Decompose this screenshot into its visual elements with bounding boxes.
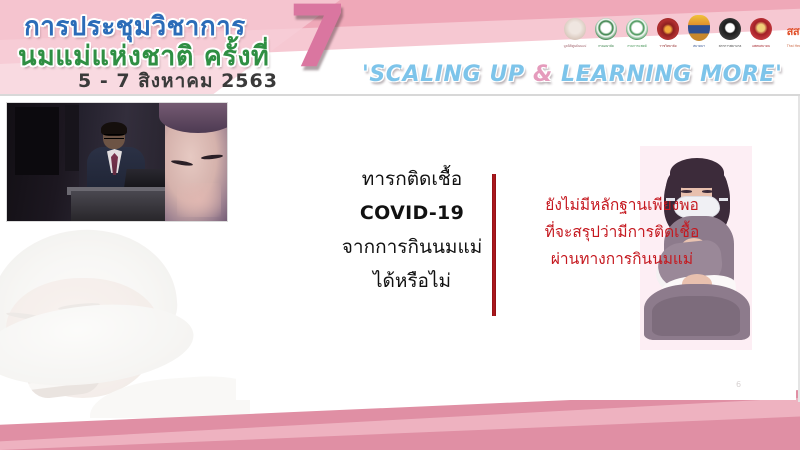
royal-seal-icon — [564, 18, 586, 40]
podium — [71, 191, 175, 222]
tagline-part-1: 'SCALING UP — [362, 62, 533, 87]
department-health-caption: กรมการแพทย์ — [624, 44, 650, 52]
royal-crest-logo: สมาคมฯ — [686, 18, 712, 52]
thaihealth-caption: Thai Health — [779, 44, 800, 52]
presentation-slide: ทารกติดเชื้อ COVID-19 จากการกินนมแม่ ได้… — [0, 0, 800, 450]
question-text-block: ทารกติดเชื้อ COVID-19 จากการกินนมแม่ ได้… — [302, 162, 522, 298]
black-emblem-icon — [719, 18, 741, 40]
red-emblem-caption: ราชวิทยาลัย — [655, 44, 681, 52]
conference-tagline: 'SCALING UP & LEARNING MORE' — [362, 62, 782, 87]
tagline-part-2: LEARNING MORE' — [553, 62, 783, 87]
projected-baby-cheek — [177, 183, 221, 217]
tagline-ampersand: & — [533, 62, 553, 87]
photo-fade-overlay — [0, 228, 250, 418]
answer-text-block: ยังไม่มีหลักฐานเพียงพอ ที่จะสรุปว่ามีการ… — [502, 192, 742, 273]
organizer-logos: มูลนิธิศูนย์นมแม่ กรมอนามัย กรมการแพทย์ … — [562, 18, 800, 52]
royal-crest-caption: สมาคมฯ — [686, 44, 712, 52]
ministry-health-logo: กรมอนามัย — [593, 18, 619, 52]
stage-panel-left — [15, 107, 59, 175]
answer-line-3: ผ่านทางการกินนมแม่ — [502, 246, 742, 273]
question-line-3: จากการกินนมแม่ — [302, 230, 522, 264]
answer-line-2: ที่จะสรุปว่ามีการติดเชื้อ — [502, 219, 742, 246]
slide-number: 6 — [736, 380, 741, 389]
question-line-1: ทารกติดเชื้อ — [302, 162, 522, 196]
stage-panel-right — [65, 105, 79, 171]
question-line-2: COVID-19 — [302, 196, 522, 230]
speaker-webcam-feed[interactable] — [6, 102, 228, 222]
thaihealth-logo: สสส Thai Health — [779, 18, 800, 52]
answer-line-1: ยังไม่มีหลักฐานเพียงพอ — [502, 192, 742, 219]
header-bottom-rule — [0, 94, 800, 96]
smiling-child-photo — [0, 228, 250, 418]
mother-legs — [652, 296, 740, 336]
red-emblem-logo: ราชวิทยาลัย — [655, 18, 681, 52]
department-health-logo: กรมการแพทย์ — [624, 18, 650, 52]
black-emblem-caption: สภาการพยาบาล — [717, 44, 743, 52]
conference-date: 5 - 7 สิงหาคม 2563 — [78, 66, 278, 96]
black-emblem-logo: สภาการพยาบาล — [717, 18, 743, 52]
red-vertical-divider — [492, 174, 496, 316]
speaker-glasses — [104, 134, 124, 139]
edition-number: 7 — [288, 0, 348, 80]
thaihealth-wordmark: สสส — [779, 22, 800, 40]
crimson-crest-caption: แพทยสมาคม — [748, 44, 774, 52]
slide-content-area: ทารกติดเชื้อ COVID-19 จากการกินนมแม่ ได้… — [236, 100, 796, 400]
royal-seal-caption: มูลนิธิศูนย์นมแม่ — [562, 44, 588, 52]
royal-seal-logo: มูลนิธิศูนย์นมแม่ — [562, 18, 588, 52]
ministry-health-caption: กรมอนามัย — [593, 44, 619, 52]
conference-header-banner: 7 การประชุมวิชาการ นมแม่แห่งชาติ ครั้งที… — [0, 0, 800, 96]
question-line-4: ได้หรือไม่ — [302, 264, 522, 298]
crimson-crest-icon — [750, 18, 772, 40]
ministry-health-icon — [595, 18, 617, 40]
red-emblem-icon — [657, 18, 679, 40]
crimson-crest-logo: แพทยสมาคม — [748, 18, 774, 52]
department-health-icon — [626, 18, 648, 40]
royal-crest-icon — [688, 15, 710, 41]
